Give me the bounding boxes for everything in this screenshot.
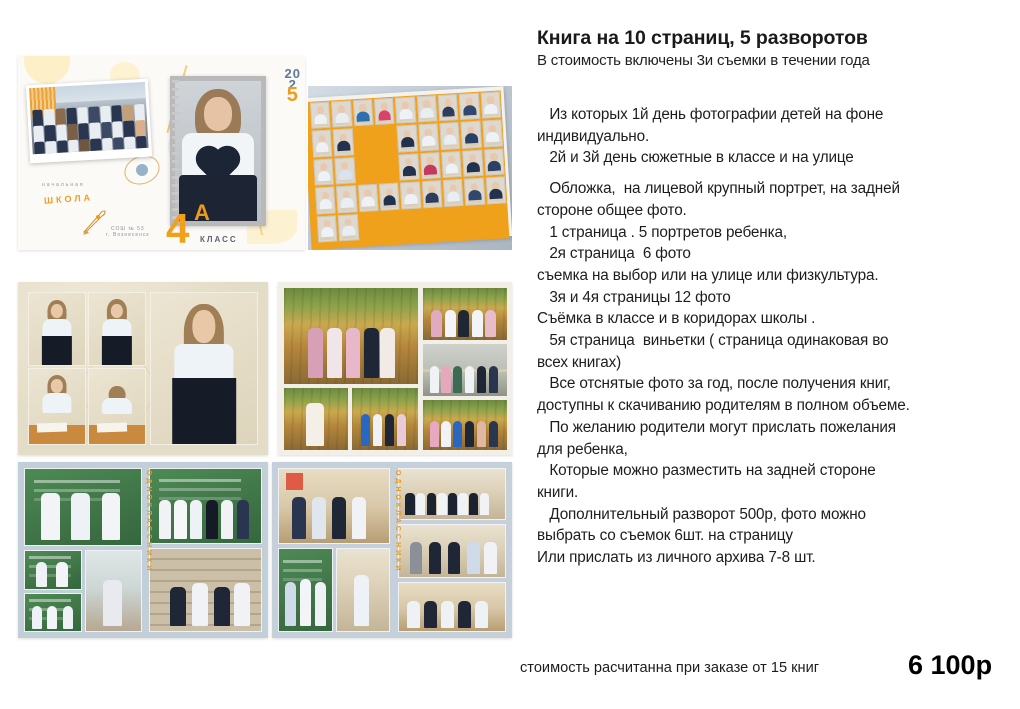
photo-portrait [28,292,86,366]
body-line: стороне общее фото. [537,200,1015,222]
photo-classmates [398,582,506,632]
spread-vignette[interactable]: 4 [308,86,512,250]
spread-cover[interactable]: начальная ШКОЛА СОШ № 53 г. Вознесенск 2… [18,56,305,250]
photo-cover-portrait [170,76,266,226]
vignette-portrait [484,148,505,175]
vignette-portrait [379,183,400,211]
spread-portraits[interactable] [18,282,268,455]
vignette-portrait [464,178,485,206]
photo-portrait [88,368,146,445]
body-line: выбрать со съемок 6шт. на страницу [537,525,1015,547]
photo-classroom [24,593,82,632]
vignette-portrait [418,124,439,152]
spread-classroom[interactable]: ОДНОКЛАССНИКИ [18,462,268,638]
body-line: индивидуально. [537,126,1015,148]
body-line: для ребенка, [537,439,1015,461]
body-line: Обложка, на лицевой крупный портрет, на … [537,178,1015,200]
body-line: По желанию родители могут прислать пожел… [537,417,1015,439]
cover-class-number: 4 [166,210,189,248]
photo-outdoor [352,388,418,450]
vignette-portrait [317,215,338,242]
vignette-portrait [335,157,356,184]
body-line: съемка на выбор или на улице или физкуль… [537,265,1015,287]
price-value: 6 100р [908,650,992,681]
photo-classmates [398,468,506,520]
vignette-portrait [358,184,379,212]
photo-outdoor [423,288,507,340]
body-line: 3я и 4я страницы 12 фото [537,287,1015,309]
school-city: г. Вознесенск [106,232,150,238]
vignette-portrait [438,94,459,121]
vignette-portrait [441,151,462,178]
spread-outdoor[interactable] [278,282,512,455]
cover-school-sub: начальная [42,182,85,188]
vignette-portrait [399,153,420,180]
photo-outdoor [284,388,348,450]
spread-side-text: ОДНОКЛАССНИКИ [391,470,401,630]
vignette-portrait [395,97,416,124]
body-line: 2й и 3й день сюжетные в классе и на улиц… [537,147,1015,169]
body-line: Из которых 1й день фотографии детей на ф… [537,104,1015,126]
photo-portrait-large [150,292,258,445]
vignette-portrait [422,180,443,208]
vignette-portrait [443,179,464,207]
vignette-portrait [439,122,460,150]
vignette-portrait [315,187,336,215]
decor-blob [24,56,70,84]
cover-class-letter: А [194,200,210,226]
body-line: Съёмка в классе и в коридорах школы . [537,308,1015,330]
vignette-portrait [420,152,441,179]
photo-classroom [85,550,142,632]
vignette-portrait [459,93,480,120]
vignette-portrait [338,214,359,241]
vignette-portrait [331,100,352,127]
price-footer: стоимость расчитанна при заказе от 15 кн… [520,652,1020,692]
vignette-portrait [310,102,331,129]
body-line: книги. [537,482,1015,504]
vignette-portrait [462,149,483,176]
year-accent: 5 [285,90,301,101]
vignette-portrait-grid: 4 [310,91,508,242]
cover-school-id: СОШ № 53 г. Вознесенск [106,226,150,238]
cover-school-word: ШКОЛА [44,192,94,205]
photo-classroom [149,468,262,544]
body-line: всех книгах) [537,352,1015,374]
body-line: Которые можно разместить на задней сторо… [537,460,1015,482]
vignette-portrait [480,91,501,118]
page-root: начальная ШКОЛА СОШ № 53 г. Вознесенск 2… [0,0,1020,709]
vignette-center-badge: 4 [354,126,398,183]
vignette-portrait [485,177,506,205]
body-line: 5я страница виньетки ( страница одинаков… [537,330,1015,352]
description-body: Из которых 1й день фотографии детей на ф… [537,104,1015,569]
price-note: стоимость расчитанна при заказе от 15 кн… [520,660,819,676]
vignette-portrait [400,182,421,210]
page-subtitle: В стоимость включены 3и съемки в течении… [537,52,870,71]
spread-side-text: ОДНОКЛАССНИКИ [142,470,152,630]
photo-outdoor [423,344,507,396]
spread-gallery: начальная ШКОЛА СОШ № 53 г. Вознесенск 2… [0,0,520,709]
vignette-portrait [353,99,374,126]
body-line: Дополнительный разворот 500р, фото можно [537,504,1015,526]
body-line: 2я страница 6 фото [537,243,1015,265]
photo-classmates [278,548,333,632]
vignette-portrait [336,185,357,213]
photo-outdoor [423,400,507,450]
vignette-portrait [374,98,395,125]
cover-year: 20 2 5 [285,68,301,101]
photo-classmates [278,468,390,544]
photo-class-group [26,79,152,164]
vignette-portrait [416,95,437,122]
photo-classmates [336,548,390,632]
body-line: Или прислать из личного архива 7-8 шт. [537,547,1015,569]
vignette-sheet: 4 [308,86,512,247]
photo-classroom [24,468,142,546]
photo-portrait [88,292,146,366]
vignette-portrait [461,121,482,149]
photo-classmates [398,524,506,578]
body-spacer [537,169,1015,178]
body-line: доступны к скачиванию родителям в полном… [537,395,1015,417]
vignette-portrait [312,130,333,158]
photo-outdoor [284,288,418,384]
photo-classroom [24,550,82,590]
vignette-portrait [333,129,354,157]
page-title: Книга на 10 страниц, 5 разворотов [537,27,868,50]
photo-classroom [149,548,262,632]
vignette-portrait [482,120,503,148]
decor-planet [136,164,148,176]
body-line: Все отснятые фото за год, после получени… [537,373,1015,395]
vignette-portrait [313,158,334,185]
spread-classmates[interactable]: ОДНОКЛАССНИКИ [272,462,512,638]
text-column: Книга на 10 страниц, 5 разворотов В стои… [520,0,1020,709]
cover-class-word: КЛАСС [200,235,238,244]
vignette-portrait [397,125,418,153]
body-line: 1 страница . 5 портретов ребенка, [537,222,1015,244]
photo-portrait [28,368,86,445]
